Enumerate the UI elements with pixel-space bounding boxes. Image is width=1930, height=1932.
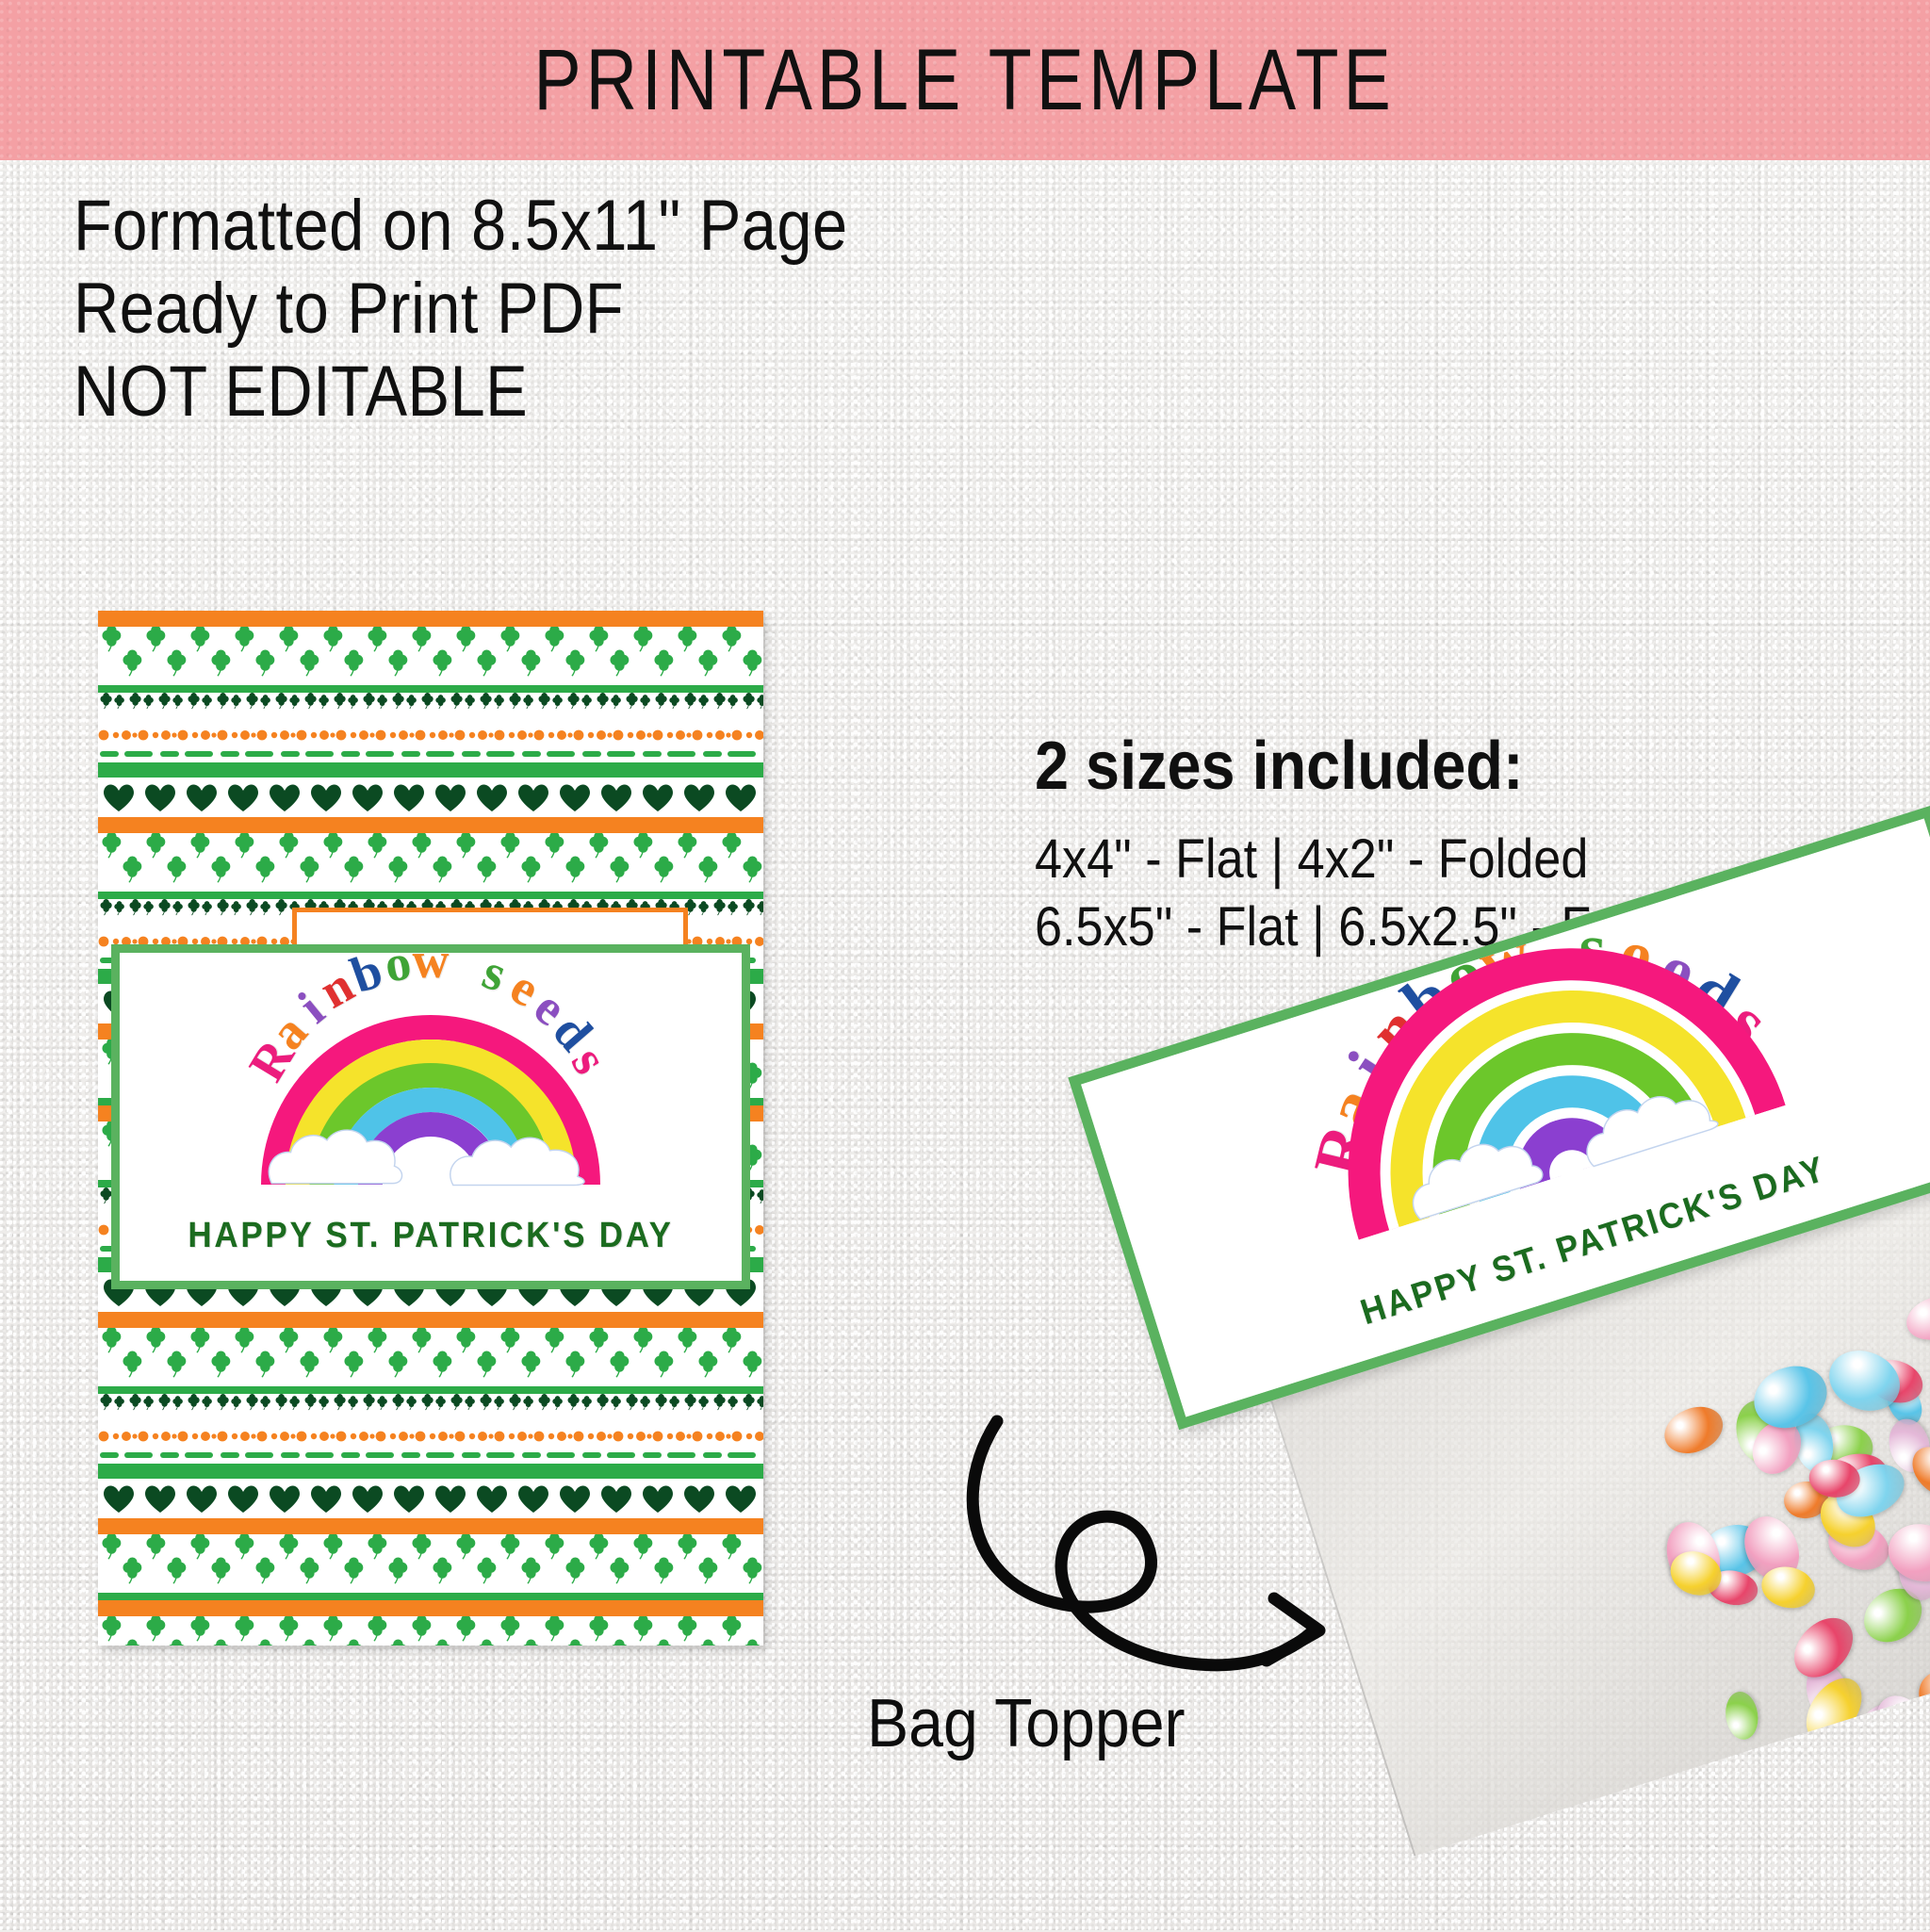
pattern-band-green-thick-bar [98, 762, 763, 778]
bag-topper-card-inner: Rainbowseeds HAPPY ST. PATRICK'S DAY [120, 953, 742, 1281]
pattern-band-shamrock-row [98, 1328, 763, 1386]
title-letter-6: w [413, 944, 450, 990]
pattern-band-green-line [98, 1593, 763, 1600]
curly-arrow-icon [942, 1404, 1338, 1715]
pattern-band-shamrock-row [98, 1534, 763, 1593]
bag-topper-card: Rainbowseeds HAPPY ST. PATRICK'S DAY [111, 944, 750, 1289]
pattern-band-green-line [98, 1386, 763, 1394]
rainbow-graphic [261, 996, 600, 1185]
pattern-band-orange-dots [98, 725, 763, 745]
bag-topper-caption: Bag Topper [867, 1685, 1186, 1762]
page-title: PRINTABLE TEMPLATE [534, 31, 1396, 130]
pattern-band-orange-stripe [98, 611, 763, 627]
pattern-band-shamrock-row [98, 833, 763, 892]
blurb-line-2: Ready to Print PDF [74, 268, 848, 351]
sizes-heading: 2 sizes included: [1035, 728, 1711, 805]
pattern-band-dark-hearts [98, 1479, 763, 1518]
pattern-band-green-dashes [98, 745, 763, 762]
pattern-band-shamrock-row [98, 627, 763, 685]
pattern-band-orange-stripe [98, 1600, 763, 1616]
blurb-line-3: NOT EDITABLE [74, 351, 848, 434]
pattern-band-green-thick-bar [98, 1464, 763, 1479]
clouds-graphic [261, 1087, 600, 1190]
blurb-text-block: Formatted on 8.5x11" Page Ready to Print… [74, 185, 954, 434]
pattern-band-green-dashes [98, 1447, 763, 1464]
greeting-text: HAPPY ST. PATRICK'S DAY [144, 1216, 716, 1256]
header-banner: PRINTABLE TEMPLATE [0, 0, 1930, 160]
pattern-band-orange-stripe [98, 817, 763, 833]
pattern-band-small-shamrock-row [98, 693, 763, 725]
pattern-band-orange-stripe [98, 1518, 763, 1534]
pattern-band-green-line [98, 685, 763, 693]
pattern-band-small-shamrock-row [98, 1394, 763, 1426]
blurb-line-1: Formatted on 8.5x11" Page [74, 185, 848, 268]
pattern-band-dark-hearts [98, 778, 763, 817]
printable-sheet: FROM: TO: Rainbowseeds HAPPY ST. PATRICK… [98, 611, 763, 1645]
pattern-band-orange-dots [98, 1426, 763, 1447]
pattern-band-green-line [98, 892, 763, 899]
pattern-band-orange-stripe [98, 1312, 763, 1328]
sizes-line-1: 4x4" - Flat | 4x2" - Folded [1035, 826, 1711, 893]
pattern-band-shamrock-row [98, 1616, 763, 1645]
